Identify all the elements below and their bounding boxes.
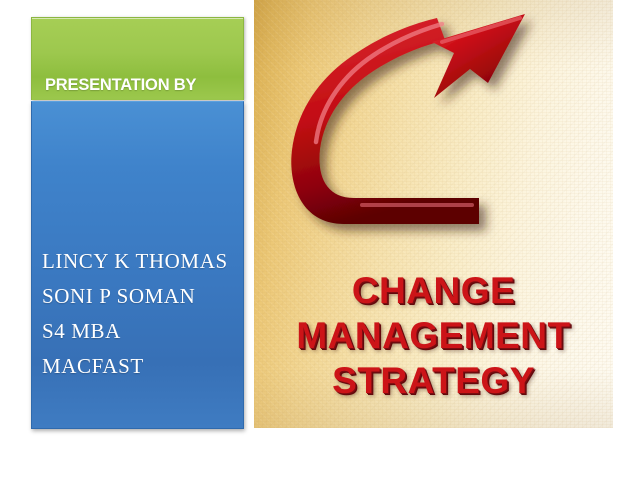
presenter-header-label: PRESENTATION BY bbox=[45, 76, 196, 95]
presenter-name-2: SONI P SOMAN bbox=[42, 279, 239, 314]
title-line-1: CHANGE bbox=[254, 268, 613, 313]
presenter-header-box: PRESENTATION BY bbox=[31, 17, 244, 100]
title-panel: CHANGE MANAGEMENT STRATEGY bbox=[254, 0, 613, 428]
presenter-body-box: LINCY K THOMAS SONI P SOMAN S4 MBA MACFA… bbox=[31, 101, 244, 429]
presenter-institution: MACFAST bbox=[42, 349, 239, 384]
title-line-3: STRATEGY bbox=[254, 358, 613, 403]
presentation-slide: PRESENTATION BY LINCY K THOMAS SONI P SO… bbox=[0, 0, 640, 480]
curved-arrow-icon bbox=[282, 6, 582, 261]
presenter-panel: PRESENTATION BY LINCY K THOMAS SONI P SO… bbox=[31, 17, 244, 429]
title-line-2: MANAGEMENT bbox=[254, 313, 613, 358]
slide-title: CHANGE MANAGEMENT STRATEGY bbox=[254, 268, 613, 403]
presenter-name-1: LINCY K THOMAS bbox=[42, 244, 239, 279]
presenter-list: LINCY K THOMAS SONI P SOMAN S4 MBA MACFA… bbox=[42, 244, 239, 384]
presenter-course: S4 MBA bbox=[42, 314, 239, 349]
